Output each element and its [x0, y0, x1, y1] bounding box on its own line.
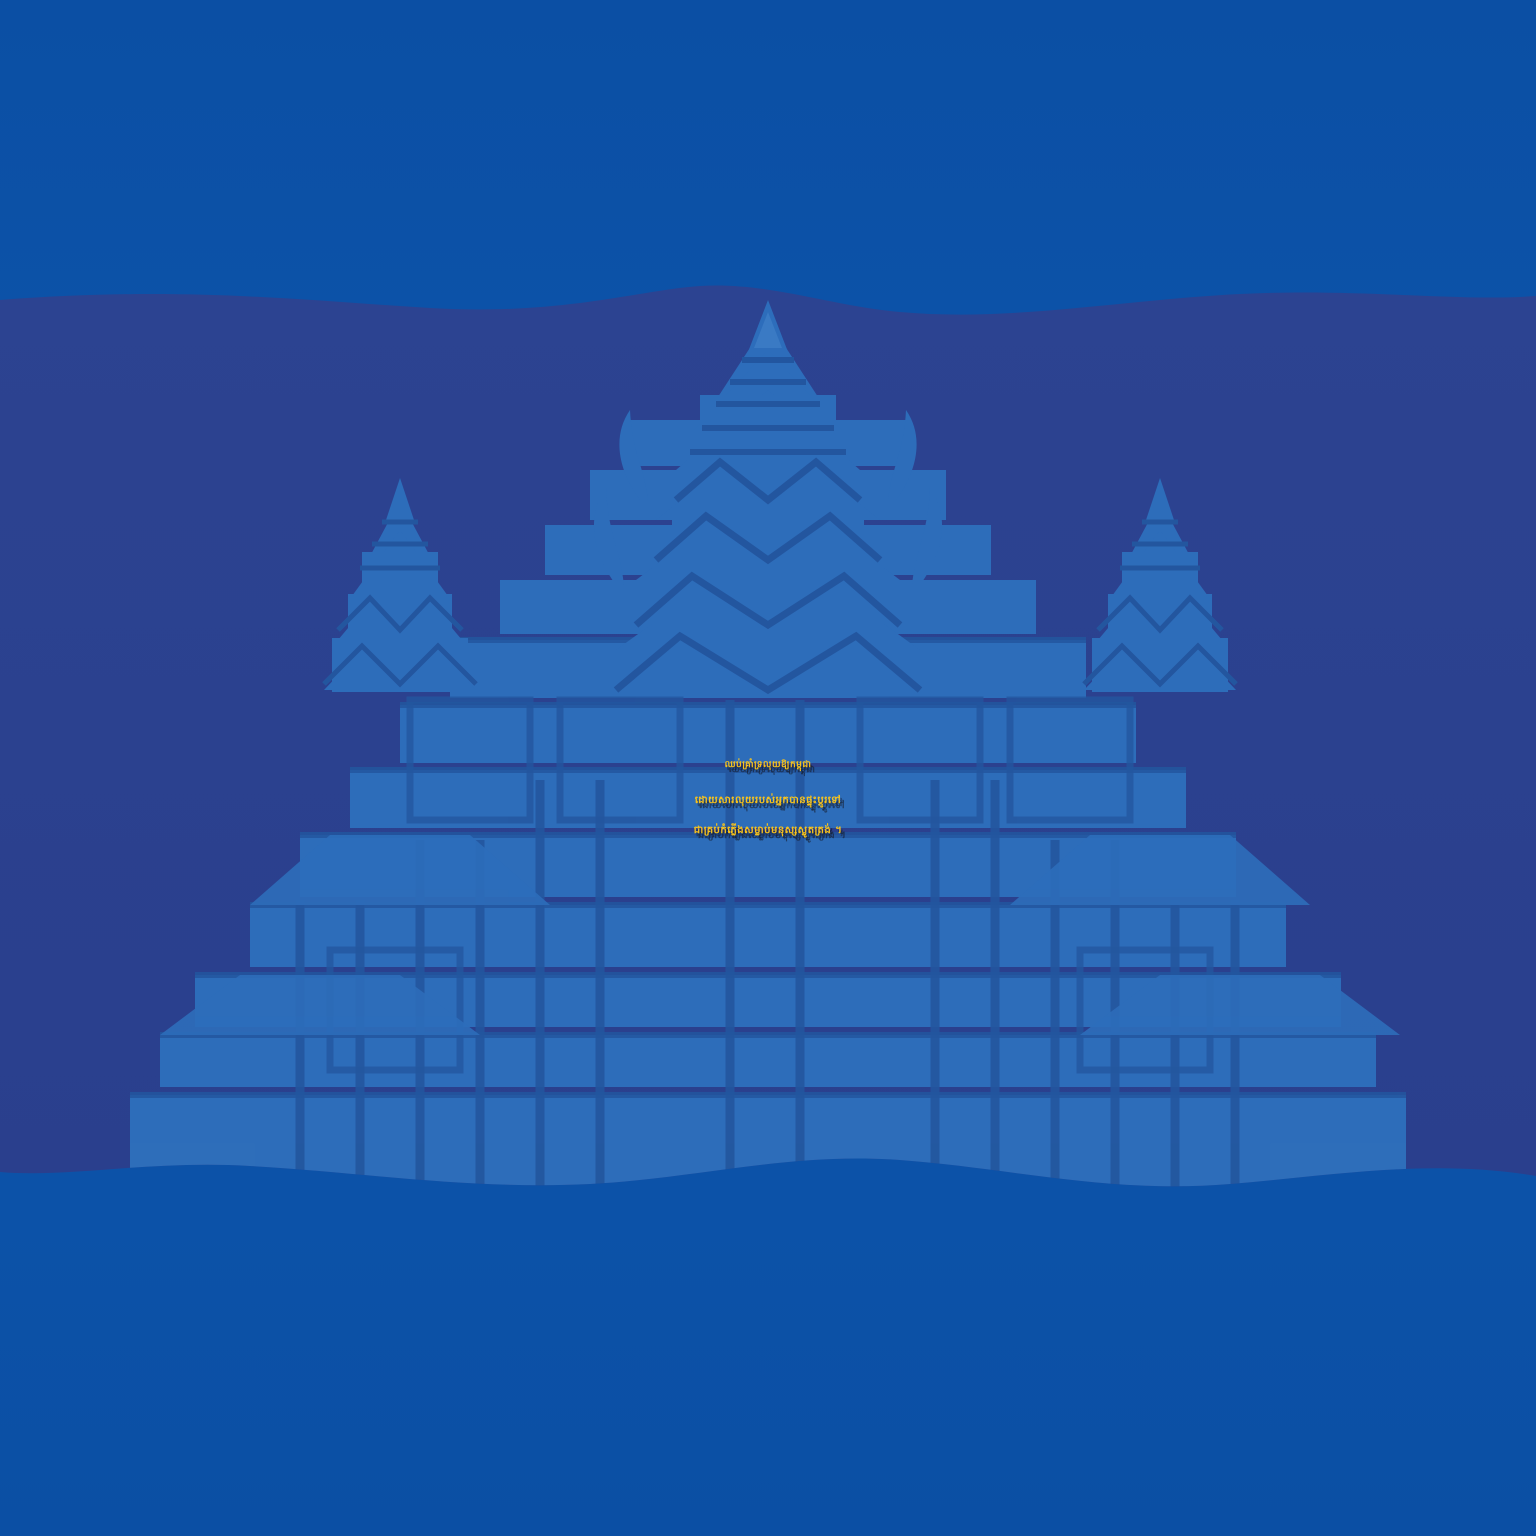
poster-canvas: ឈប់គ្រាំទ្រលុយឱ្យកម្ពុជា ដោយសារលុយរបស់អ្…	[0, 0, 1536, 1536]
cambodia-flag-background	[0, 0, 1536, 1536]
flag-svg	[0, 0, 1536, 1536]
